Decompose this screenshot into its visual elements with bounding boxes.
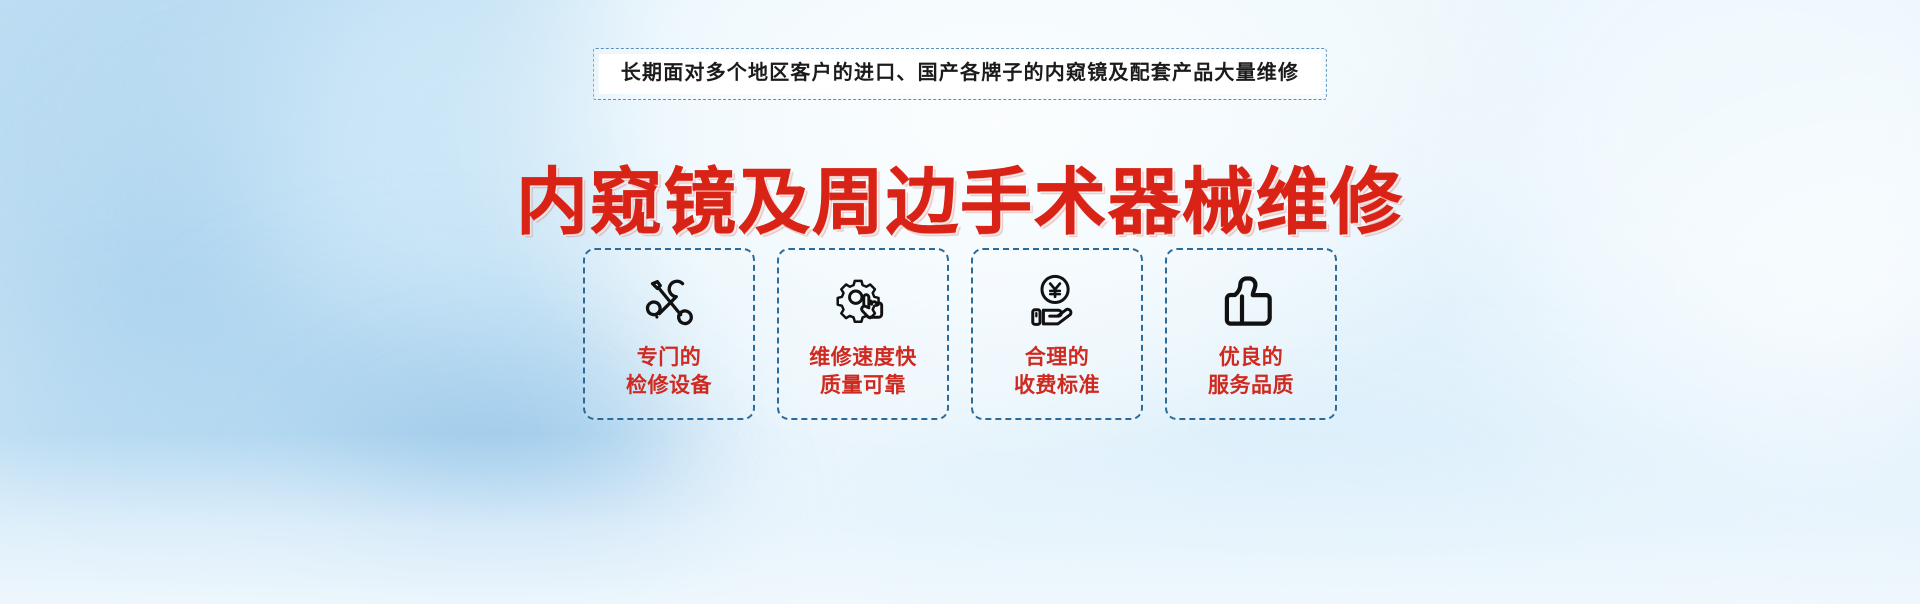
- feature-label-line1: 维修速度快: [809, 346, 917, 369]
- feature-card-service-quality[interactable]: 优良的 服务品质: [1165, 248, 1337, 420]
- feature-label-line1: 优良的: [1219, 346, 1284, 369]
- feature-card-repair-equipment[interactable]: 专门的 检修设备: [583, 248, 755, 420]
- feature-label: 优良的 服务品质: [1208, 344, 1294, 399]
- tagline-inner-panel: 长期面对多个地区客户的进口、国产各牌子的内窥镜及配套产品大量维修: [599, 54, 1321, 94]
- feature-card-pricing[interactable]: 合理的 收费标准: [971, 248, 1143, 420]
- feature-label: 维修速度快 质量可靠: [809, 344, 917, 399]
- feature-label-line2: 质量可靠: [809, 372, 917, 400]
- feature-label-line2: 收费标准: [1014, 372, 1100, 400]
- thumbs-up-icon: [1222, 270, 1280, 336]
- gear-hand-pointer-icon: [832, 270, 894, 336]
- feature-label-line1: 专门的: [637, 346, 702, 369]
- tagline-box: 长期面对多个地区客户的进口、国产各牌子的内窥镜及配套产品大量维修: [593, 48, 1327, 100]
- feature-label: 合理的 收费标准: [1014, 344, 1100, 399]
- promo-banner: 长期面对多个地区客户的进口、国产各牌子的内窥镜及配套产品大量维修 内窥镜及周边手…: [0, 0, 1920, 604]
- tools-screwdriver-wrench-icon: [638, 270, 700, 336]
- feature-label: 专门的 检修设备: [626, 344, 712, 399]
- hand-holding-yuan-coin-icon: [1025, 270, 1089, 336]
- feature-label-line2: 服务品质: [1208, 372, 1294, 400]
- feature-label-line1: 合理的: [1025, 346, 1090, 369]
- page-title: 内窥镜及周边手术器械维修: [516, 166, 1404, 242]
- tagline-text: 长期面对多个地区客户的进口、国产各牌子的内窥镜及配套产品大量维修: [621, 63, 1299, 83]
- feature-label-line2: 检修设备: [626, 372, 712, 400]
- banner-content: 长期面对多个地区客户的进口、国产各牌子的内窥镜及配套产品大量维修 内窥镜及周边手…: [0, 0, 1920, 604]
- feature-list: 专门的 检修设备 维修速度快: [583, 248, 1337, 420]
- feature-card-repair-speed[interactable]: 维修速度快 质量可靠: [777, 248, 949, 420]
